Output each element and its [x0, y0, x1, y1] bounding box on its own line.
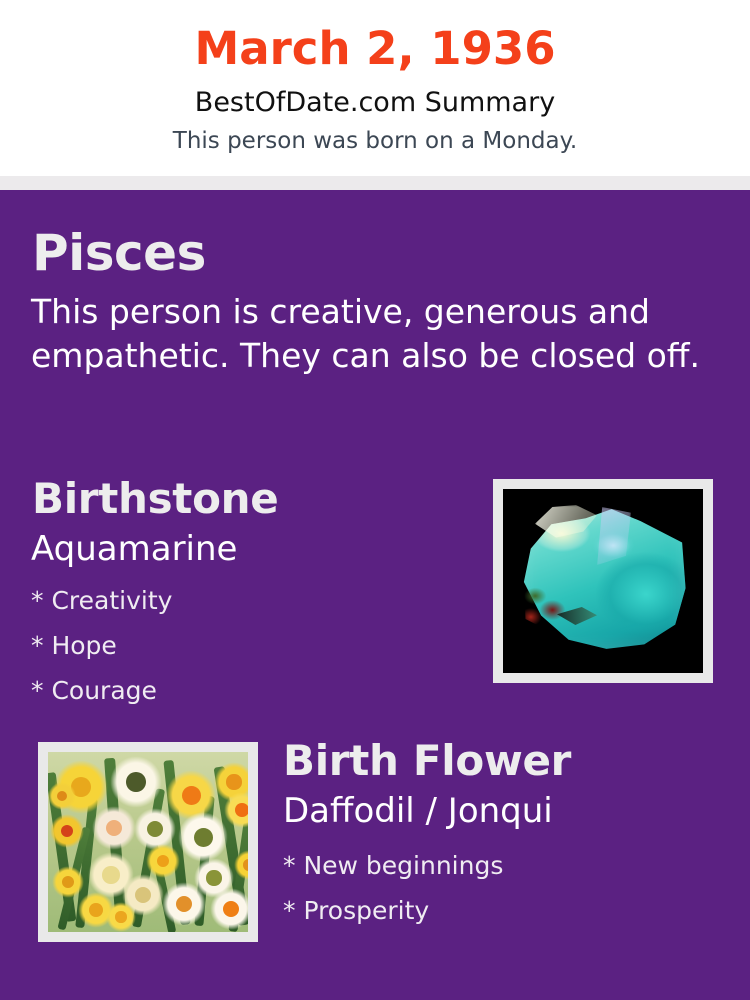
site-subtitle: BestOfDate.com Summary	[0, 86, 750, 119]
zodiac-description: This person is creative, generous and em…	[31, 290, 707, 378]
birth-day-note: This person was born on a Monday.	[0, 126, 750, 156]
list-item: * New beginnings	[283, 843, 723, 888]
content-panel: Pisces This person is creative, generous…	[0, 190, 750, 1000]
birthflower-heading: Birth Flower	[283, 736, 571, 786]
birthday-summary-card: March 2, 1936 BestOfDate.com Summary Thi…	[0, 0, 750, 1000]
daffodil-corona	[226, 774, 241, 789]
card-header: March 2, 1936 BestOfDate.com Summary Thi…	[0, 0, 750, 176]
birthstone-trait-list: * Creativity * Hope * Courage	[31, 578, 461, 713]
list-item: * Courage	[31, 668, 461, 713]
daffodil-flowers-photo	[48, 752, 248, 932]
zodiac-sign-title: Pisces	[32, 224, 206, 282]
birthstone-name: Aquamarine	[31, 528, 237, 570]
list-item: * Prosperity	[283, 888, 723, 933]
daffodil-corona	[235, 803, 248, 817]
daffodil-corona	[182, 786, 201, 805]
header-divider	[0, 176, 750, 190]
daffodil-corona	[102, 866, 119, 883]
daffodil-corona	[135, 887, 151, 903]
daffodil-corona	[206, 870, 221, 885]
birthflower-name: Daffodil / Jonqui	[283, 790, 553, 832]
birthstone-heading: Birthstone	[32, 474, 278, 524]
daffodil-corona	[62, 876, 74, 888]
birthstone-image-frame	[493, 479, 713, 683]
daffodil-corona	[223, 901, 239, 917]
daffodil-corona	[126, 772, 146, 792]
daffodil-corona	[243, 859, 248, 870]
birthflower-trait-list: * New beginnings * Prosperity	[283, 843, 723, 933]
daffodil-corona	[89, 903, 103, 917]
page-title: March 2, 1936	[0, 22, 750, 76]
list-item: * Creativity	[31, 578, 461, 623]
daffodil-corona	[115, 911, 126, 922]
daffodil-corona	[194, 828, 213, 847]
aquamarine-crystal-photo	[503, 489, 703, 673]
list-item: * Hope	[31, 623, 461, 668]
daffodil-corona	[147, 821, 163, 837]
birthflower-image-frame	[38, 742, 258, 942]
